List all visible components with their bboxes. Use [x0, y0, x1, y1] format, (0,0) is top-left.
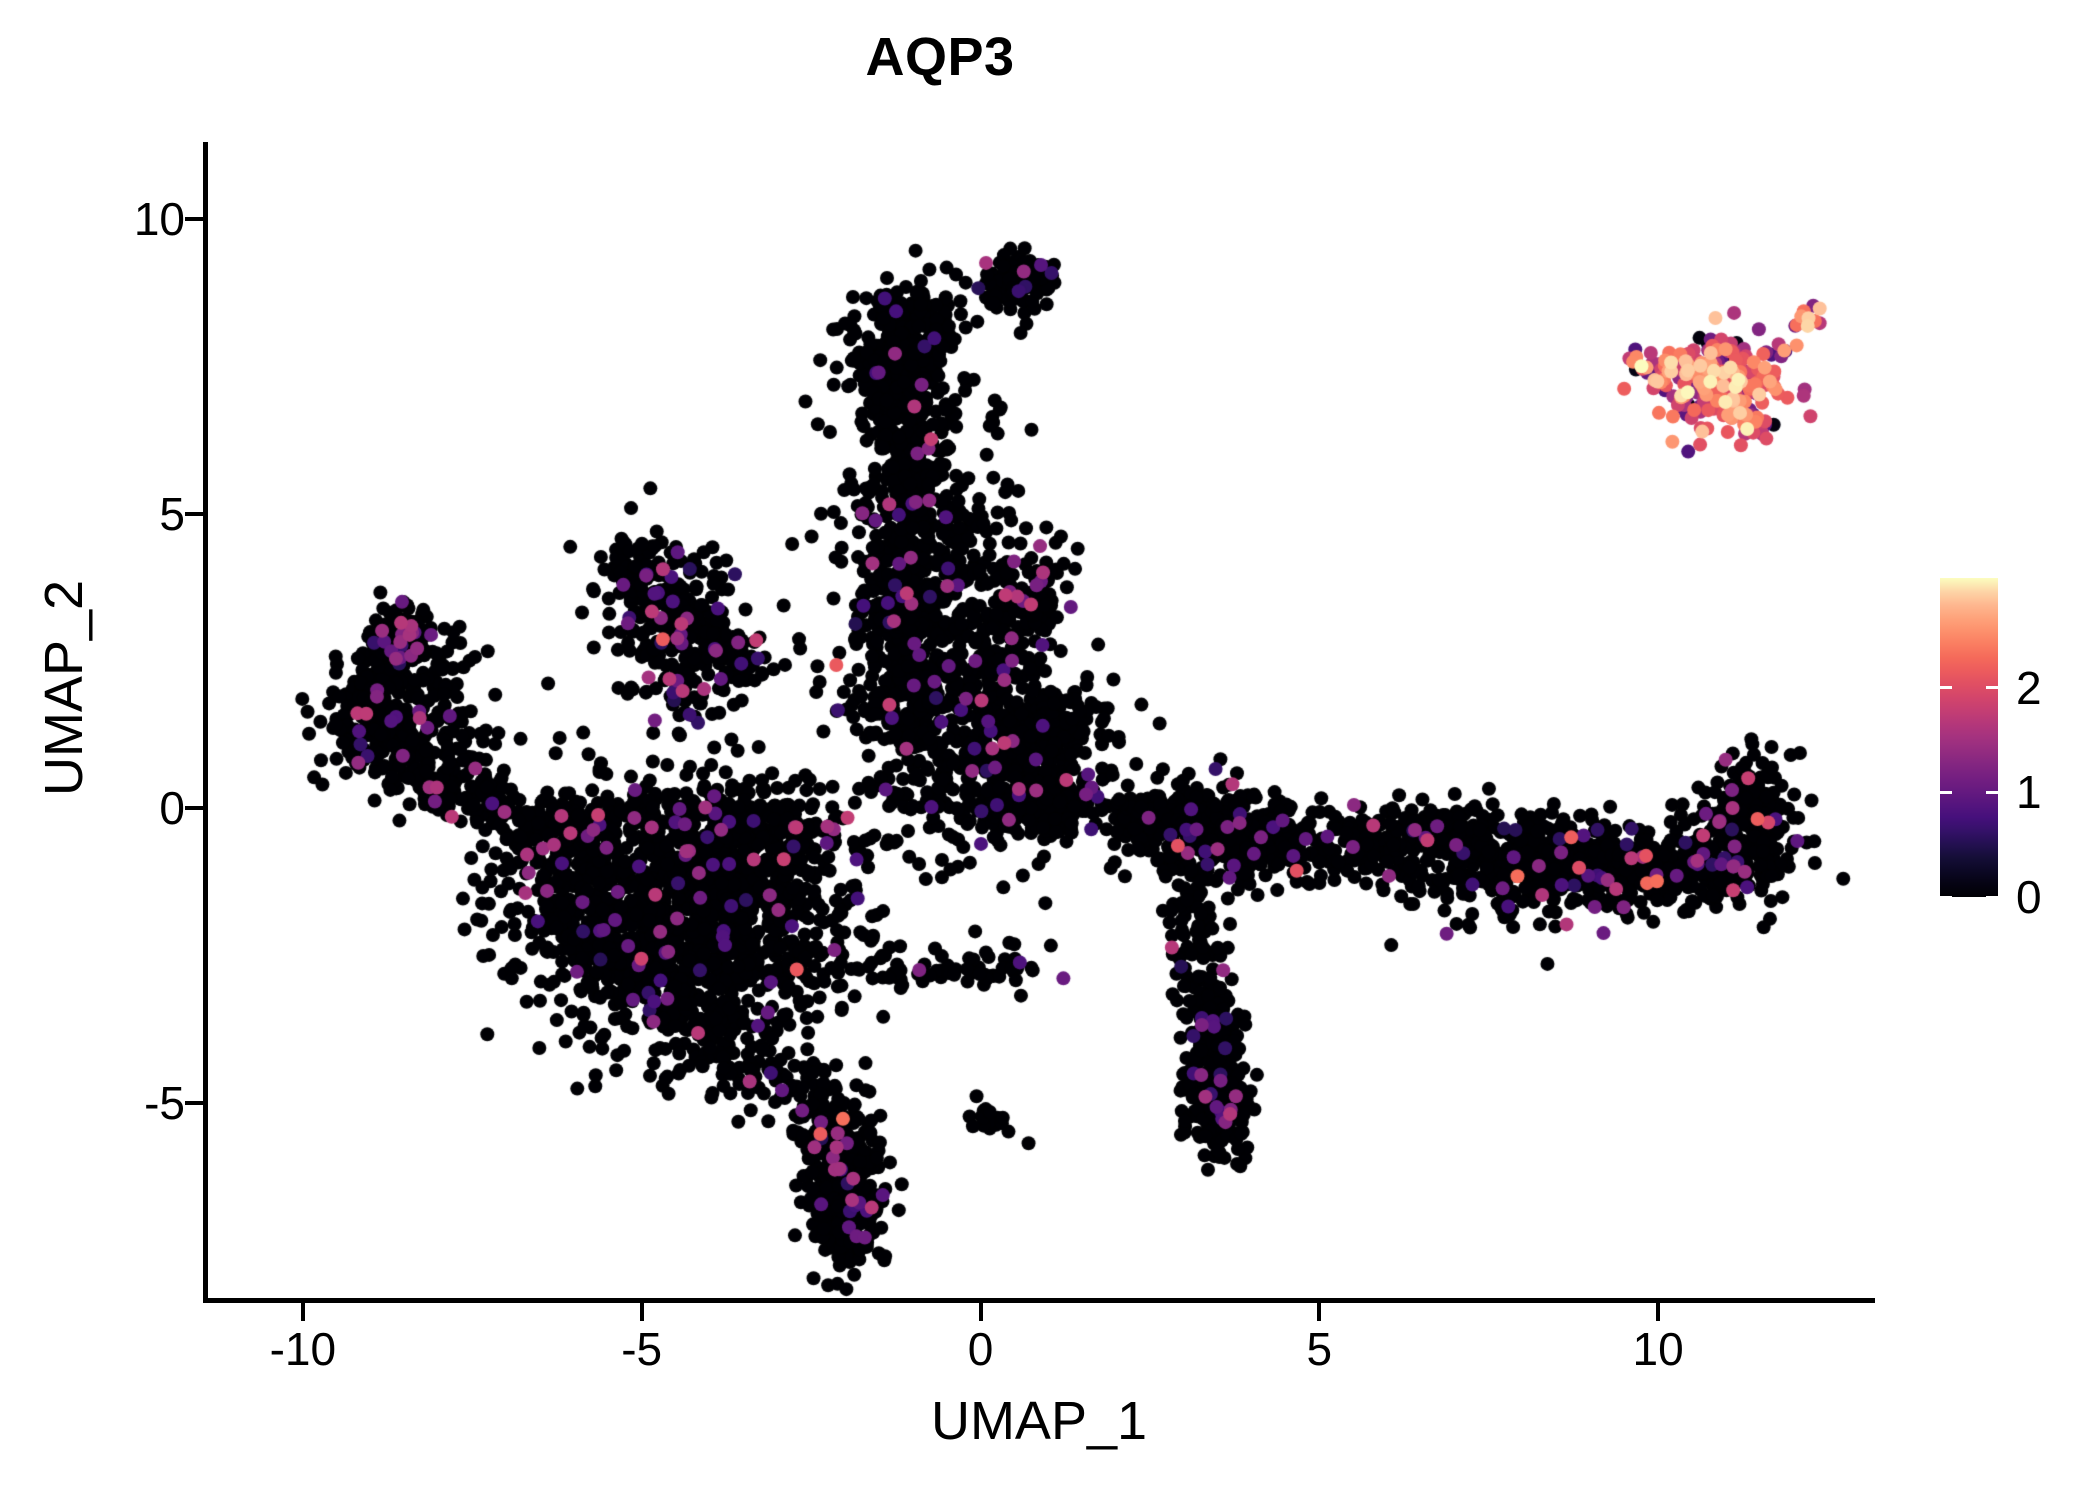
x-tick-mark: [640, 1303, 644, 1321]
legend-tick-label: 1: [2016, 765, 2042, 819]
legend-tick-mark: [1986, 686, 1998, 689]
x-axis-line: [203, 1298, 1875, 1303]
y-tick-label: -5: [144, 1076, 185, 1130]
x-tick-mark: [301, 1303, 305, 1321]
scatter-points: [208, 142, 1875, 1298]
x-tick-label: 0: [968, 1322, 994, 1376]
plot-panel: [208, 142, 1875, 1298]
y-axis-title: UMAP_2: [33, 338, 95, 1038]
y-tick-mark: [185, 512, 203, 516]
y-tick-label: 0: [159, 781, 185, 835]
y-tick-label: 5: [159, 487, 185, 541]
page-title: AQP3: [0, 26, 1880, 88]
y-tick-mark: [185, 1101, 203, 1105]
legend-tick-label: 0: [2016, 870, 2042, 924]
legend-tick-label: 2: [2016, 661, 2042, 715]
legend-tick-mark: [1940, 896, 1952, 899]
y-tick-mark: [185, 217, 203, 221]
y-tick-label: 10: [134, 192, 185, 246]
x-tick-mark: [1656, 1303, 1660, 1321]
x-tick-mark: [979, 1303, 983, 1321]
x-tick-label: -10: [270, 1322, 336, 1376]
legend-tick-mark: [1940, 791, 1952, 794]
x-tick-label: -5: [621, 1322, 662, 1376]
legend-tick-mark: [1986, 896, 1998, 899]
x-tick-label: 5: [1307, 1322, 1333, 1376]
y-tick-mark: [185, 806, 203, 810]
x-tick-mark: [1317, 1303, 1321, 1321]
legend-tick-mark: [1986, 791, 1998, 794]
umap-feature-plot: AQP3 -10-50510 1050-5 UMAP_1 UMAP_2 012: [0, 0, 2100, 1500]
x-tick-label: 10: [1633, 1322, 1684, 1376]
legend-tick-mark: [1940, 686, 1952, 689]
colorbar-legend: 012: [1940, 578, 2070, 898]
colorbar-gradient: [1940, 578, 1998, 897]
x-axis-title: UMAP_1: [203, 1390, 1875, 1452]
